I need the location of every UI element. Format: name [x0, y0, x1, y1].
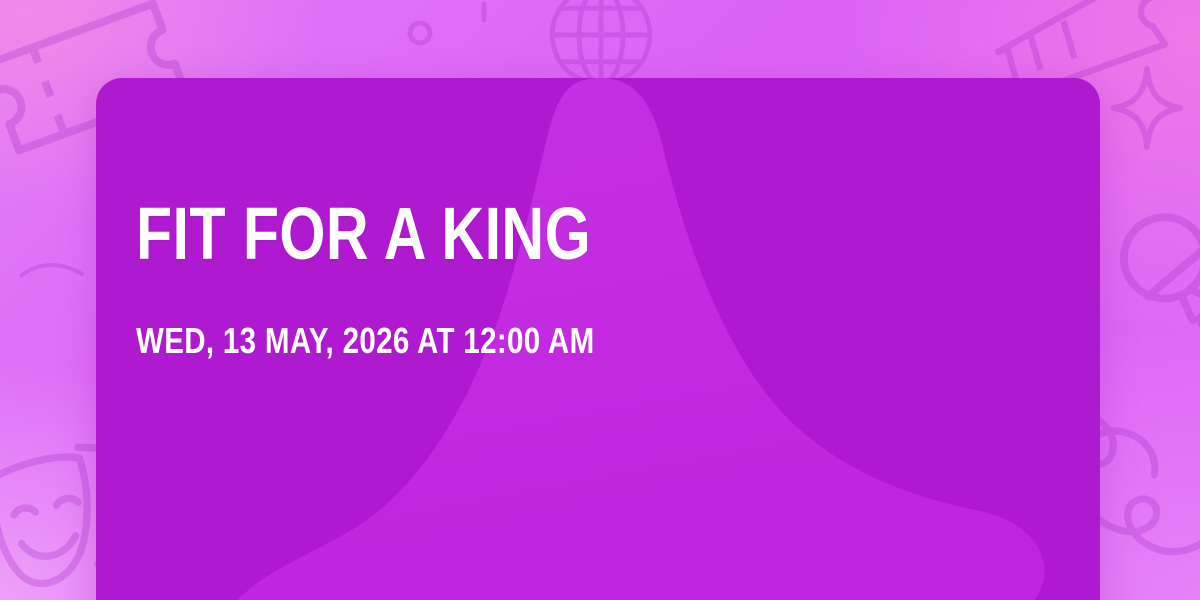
- event-date: Wed, 13 May, 2026 at 12:00 AM: [136, 323, 894, 359]
- microphone-icon: [1085, 176, 1200, 374]
- page-title: Fit For A King: [136, 198, 875, 271]
- confetti-streak-icon: [12, 239, 94, 308]
- card-content: Fit For A King Wed, 13 May, 2026 at 12:0…: [136, 198, 1060, 359]
- confetti-streak-icon: [476, 0, 492, 34]
- event-banner: Fit For A King Wed, 13 May, 2026 at 12:0…: [0, 0, 1200, 600]
- sparkle-icon: [1106, 62, 1188, 154]
- dot-icon: [405, 18, 435, 48]
- event-card[interactable]: Fit For A King Wed, 13 May, 2026 at 12:0…: [96, 78, 1100, 600]
